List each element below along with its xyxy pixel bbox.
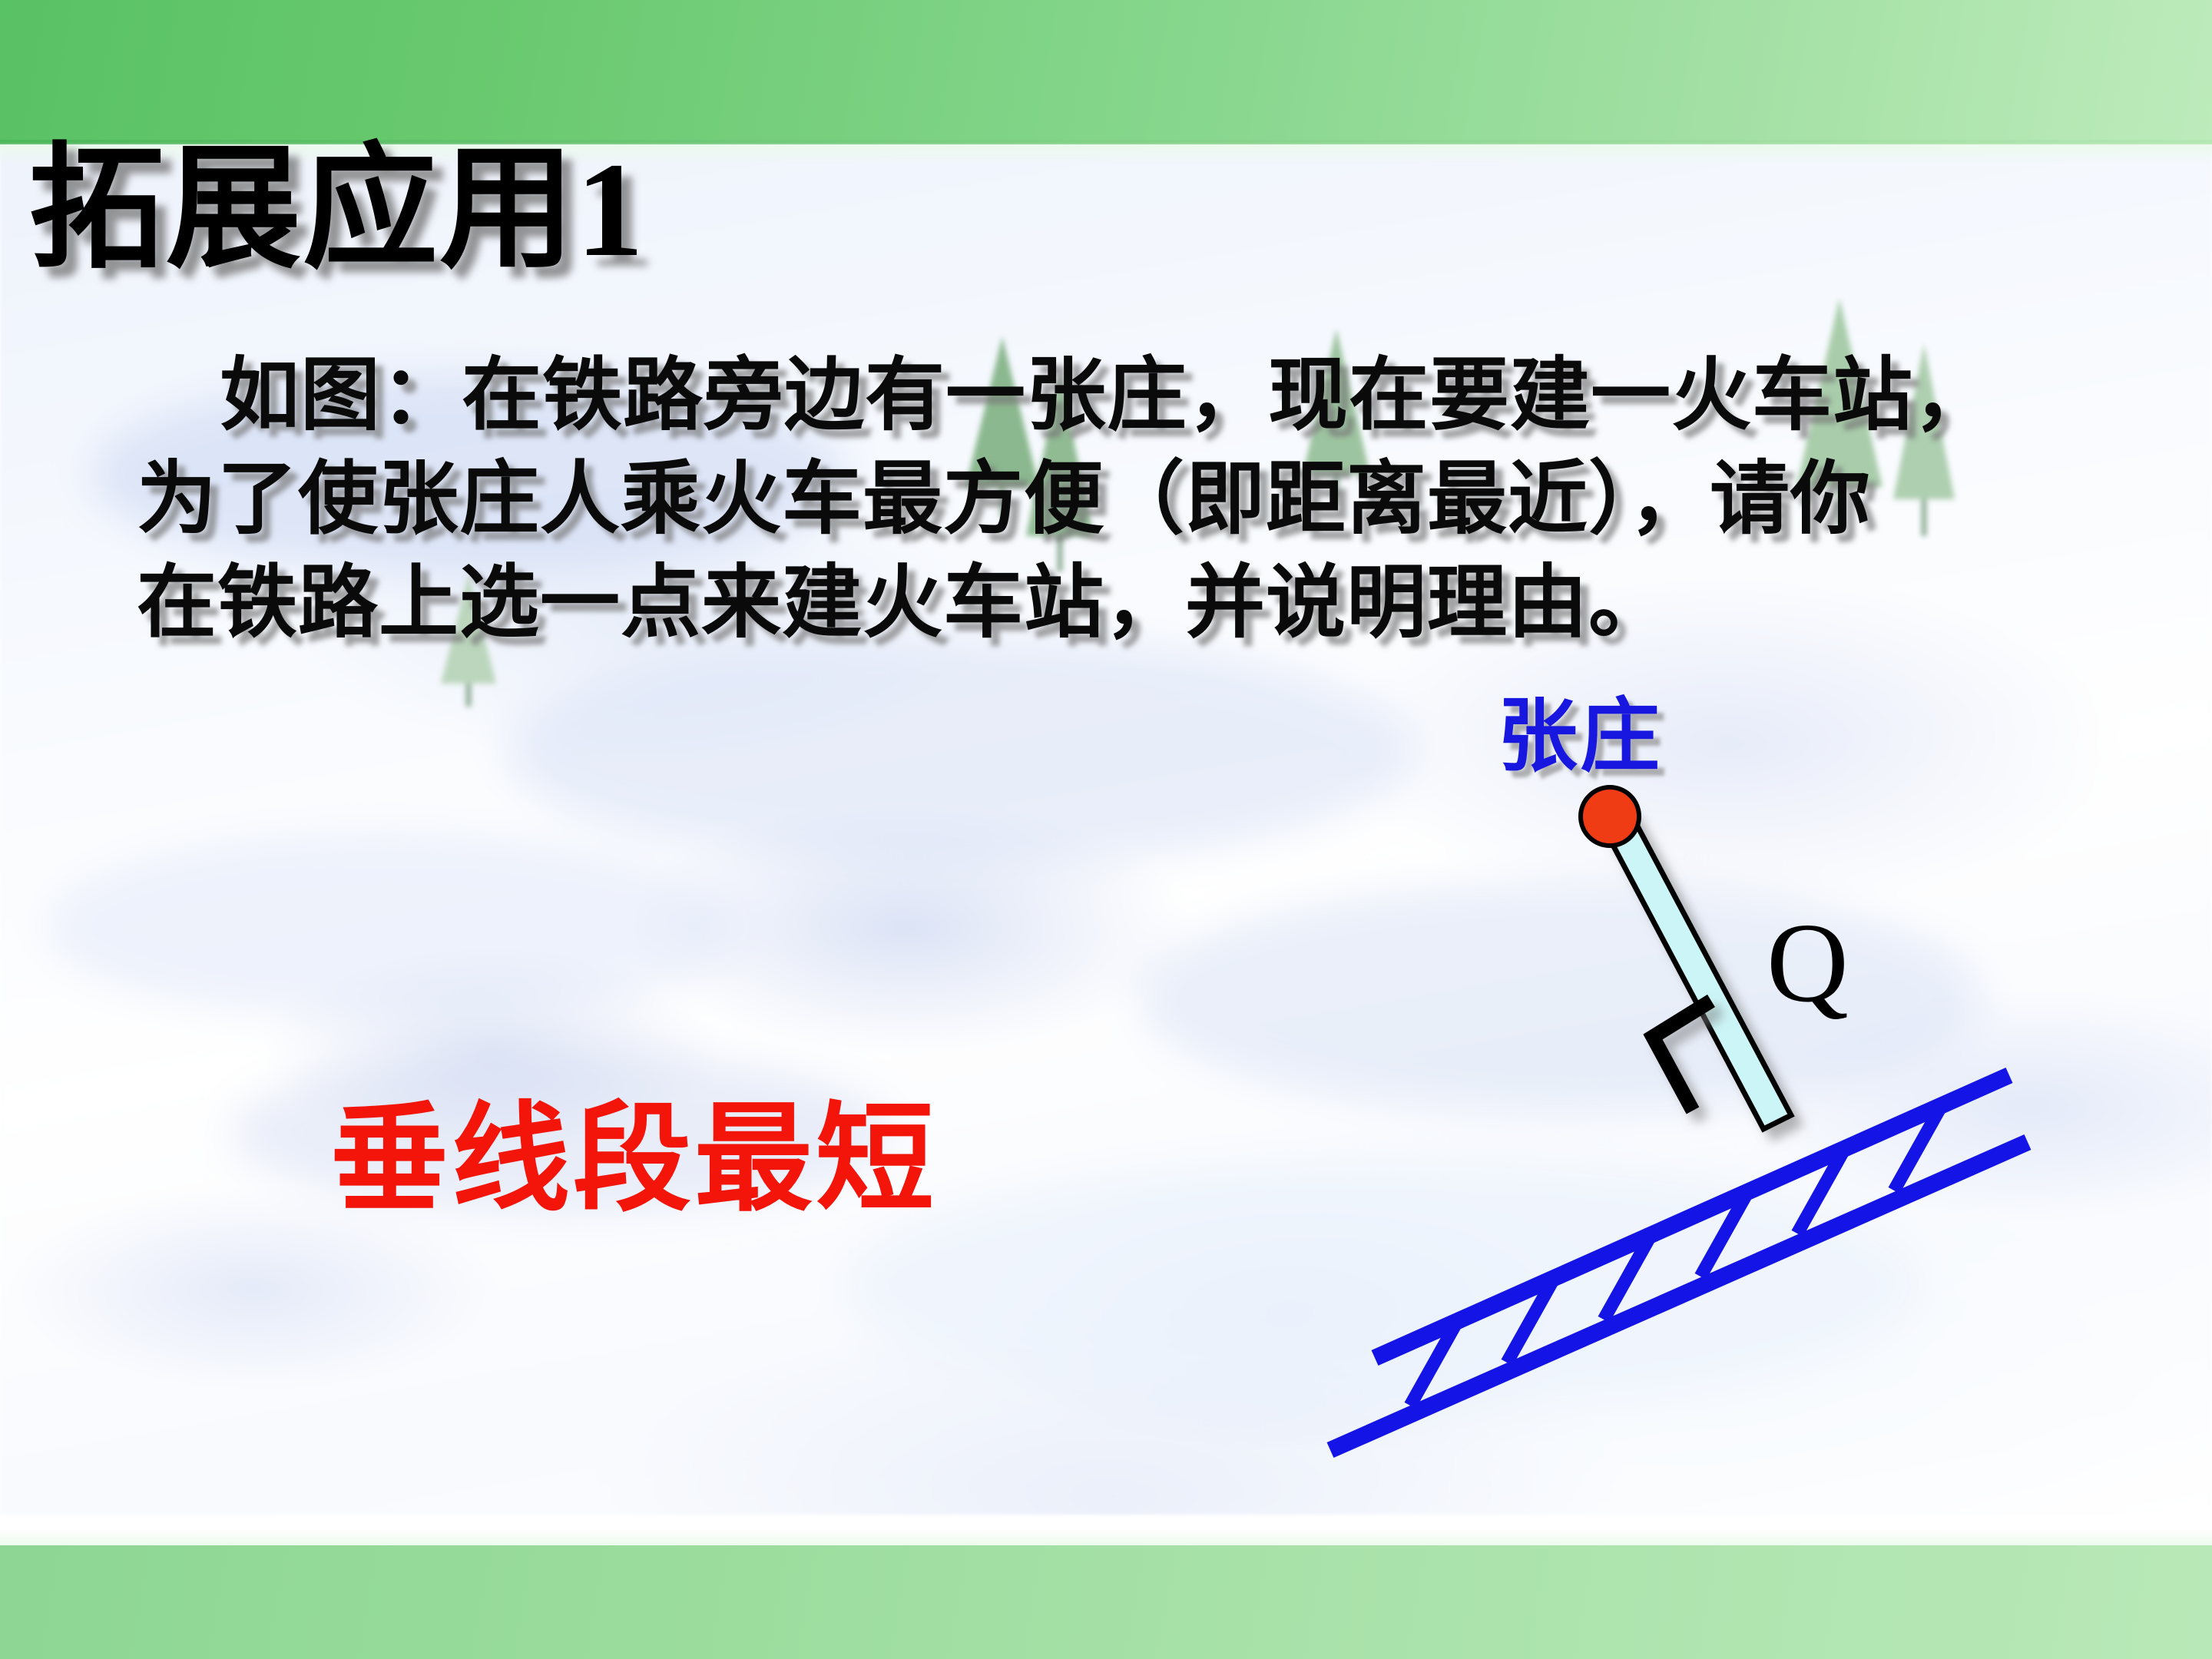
railroad-track [1330,1075,2028,1450]
rail-upper [1375,1075,2009,1358]
slide-canvas: 拓展应用1 如图：在铁路旁边有一张庄，现在要建一火车站， 为了使张庄人乘火车最方… [0,0,2212,1659]
perpendicular-segment [1601,809,1791,1129]
geometry-diagram [0,0,2212,1659]
village-point-marker [1581,787,1639,846]
village-label: 张庄 [1498,697,1662,777]
railroad-ties [1410,1108,1940,1406]
conclusion-text: 垂线段最短 [330,1101,937,1220]
foot-point-label-q: Q [1767,906,1849,1020]
rail-lower [1330,1142,2028,1450]
